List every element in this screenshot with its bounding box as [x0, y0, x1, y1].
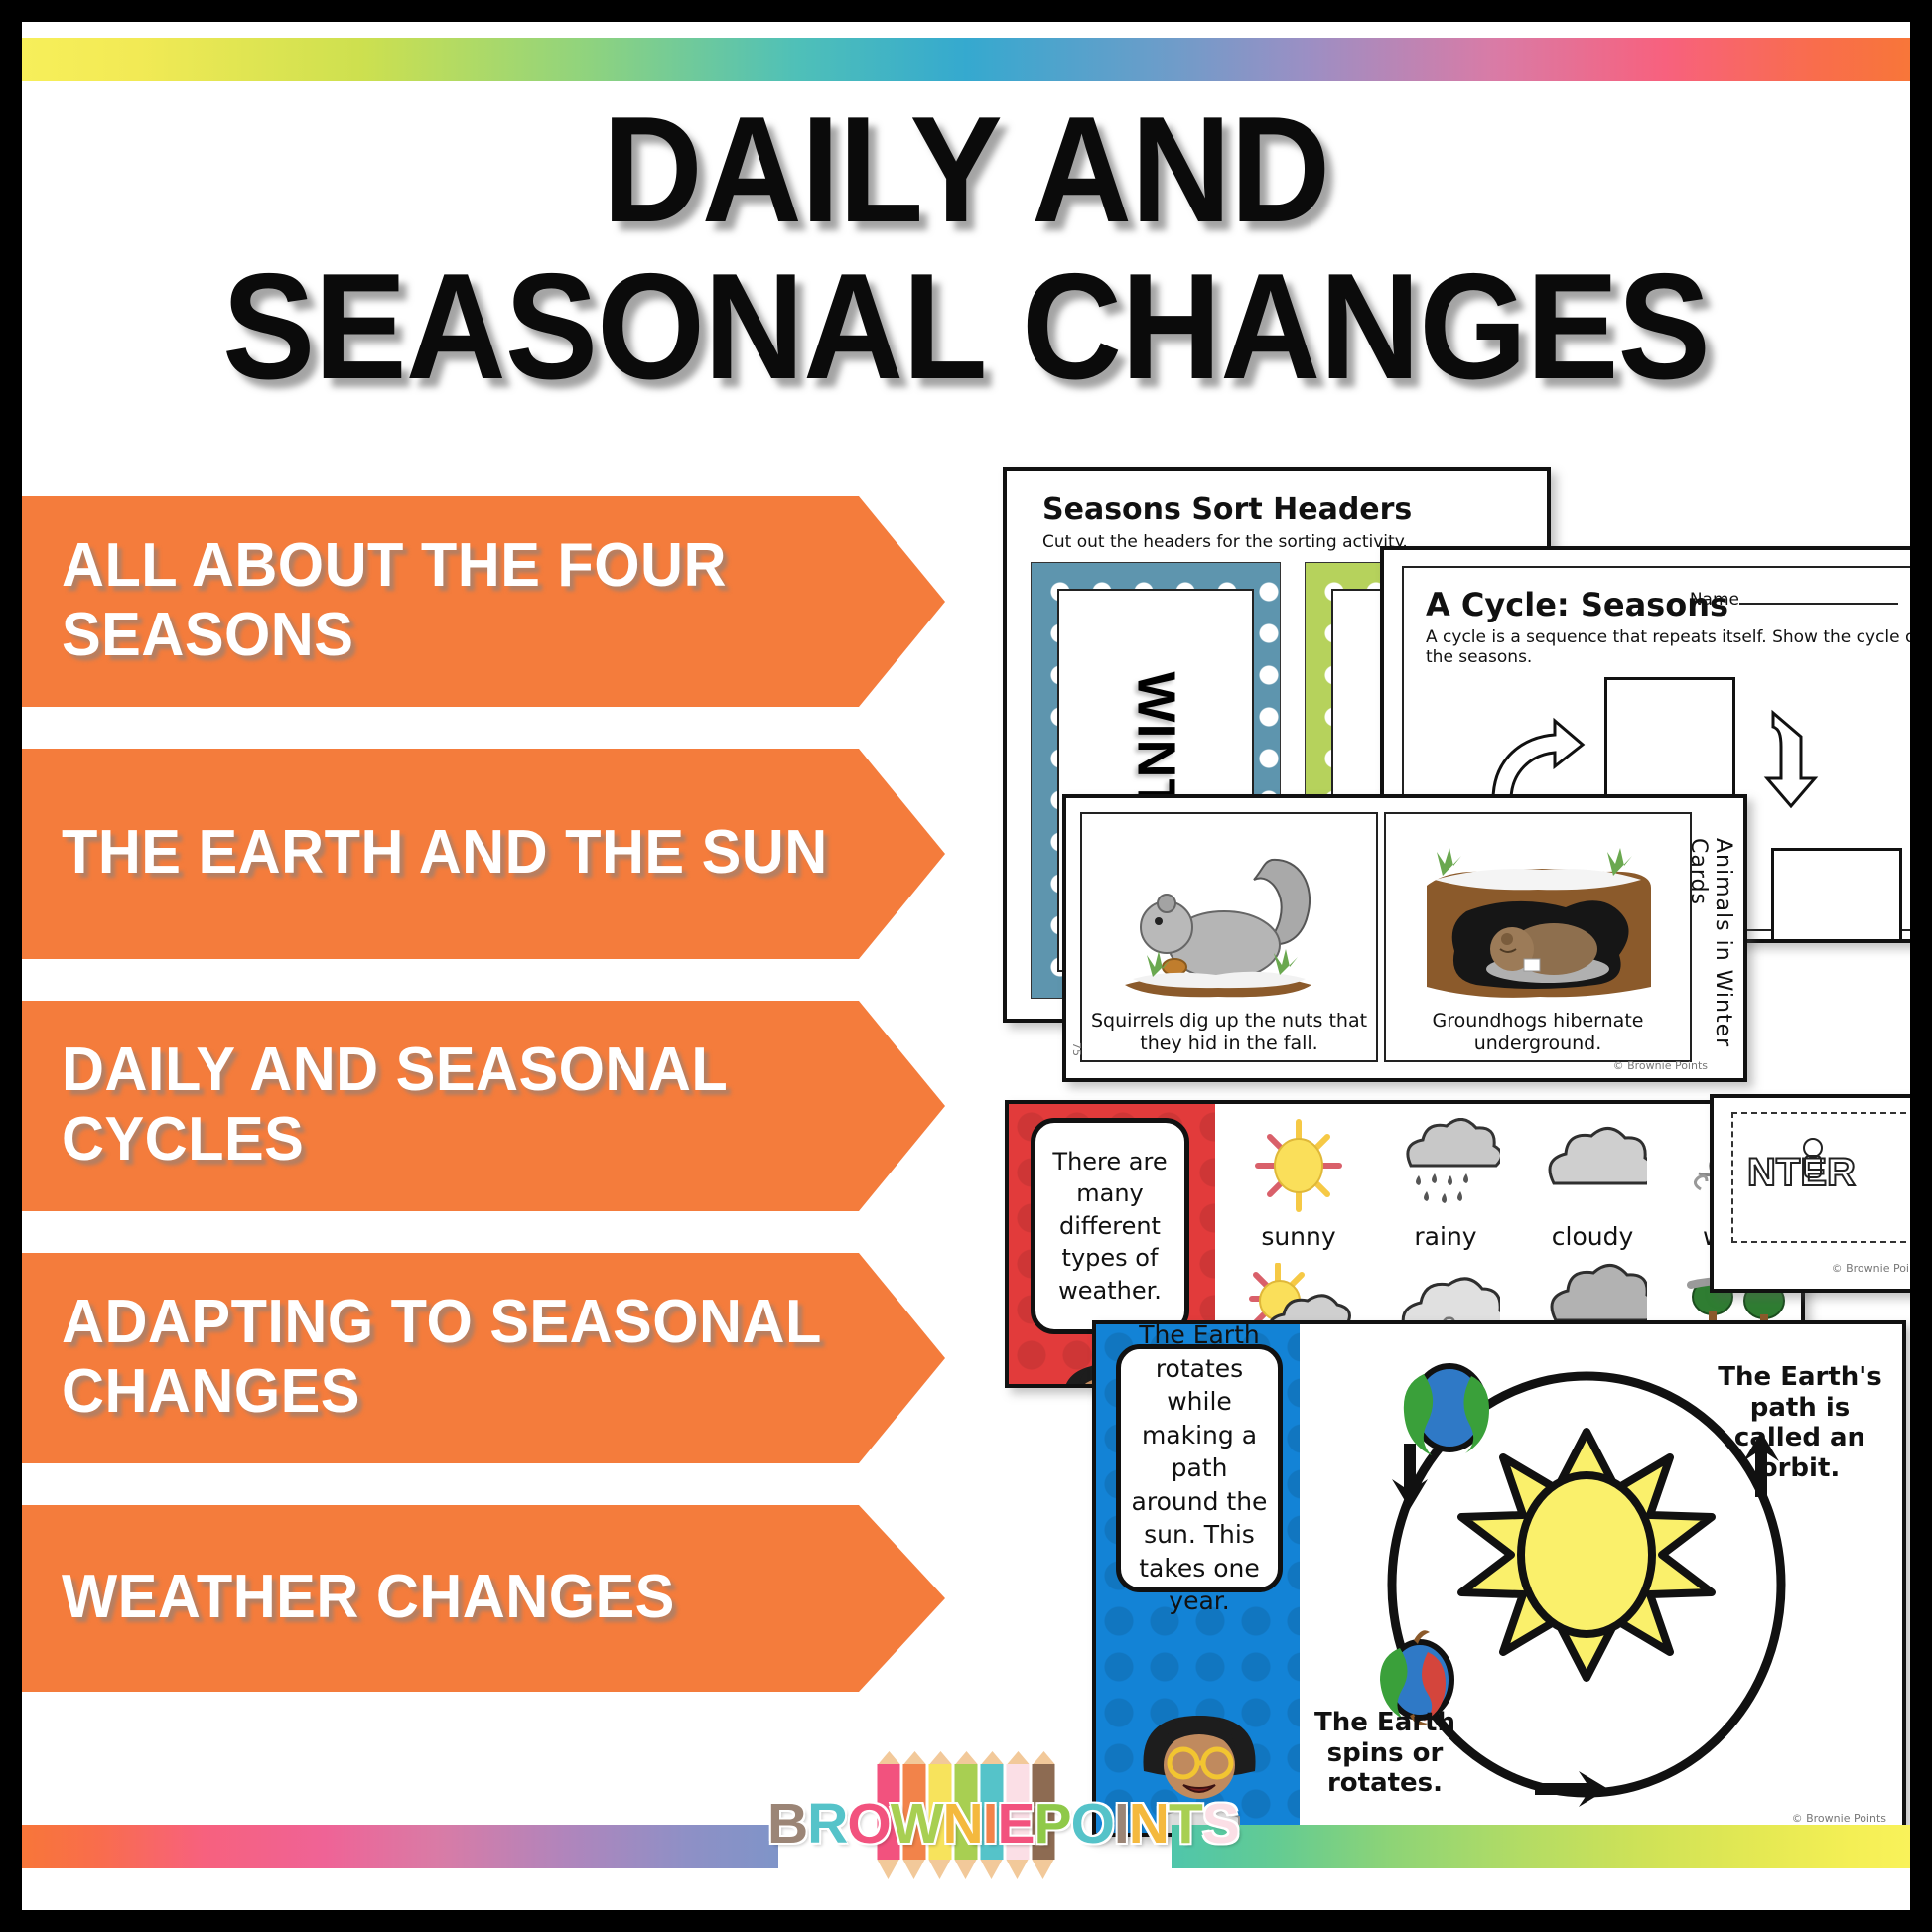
squirrel-icon [1105, 846, 1353, 1010]
watermark: © Brownie Points [1832, 1262, 1910, 1275]
cover-page: DAILY AND SEASONAL CHANGES ALL ABOUT THE… [22, 22, 1910, 1910]
rainbow-strip-bottom-right [1172, 1825, 1910, 1868]
preview-animals-in-winter-cards[interactable]: Squirrels dig up the nuts that they hid … [1062, 794, 1747, 1082]
weather-item-cloudy: cloudy [1519, 1118, 1666, 1251]
banner-earth-and-sun[interactable]: THE EARTH AND THE SUN [22, 749, 945, 959]
svg-text:NTER: NTER [1747, 1151, 1856, 1194]
animal-cards-side-label: Animals in Winter Cards [1686, 838, 1735, 1078]
watermark: © Brownie Points [1613, 1059, 1708, 1072]
preview-earth-orbit-poster[interactable]: The Earth rotates while making a path ar… [1092, 1320, 1906, 1837]
name-rule [1739, 603, 1898, 605]
product-cover: DAILY AND SEASONAL CHANGES ALL ABOUT THE… [0, 0, 1932, 1932]
groundhog-burrow-icon [1409, 846, 1667, 1010]
cycle-box-bottom-right [1771, 848, 1902, 943]
logo-letter: O [847, 1792, 890, 1856]
banner-adapting-seasonal-changes[interactable]: ADAPTING TO SEASONAL CHANGES [22, 1253, 945, 1463]
page-number: 75 [1070, 1042, 1083, 1056]
feature-banner-list: ALL ABOUT THE FOUR SEASONS THE EARTH AND… [22, 496, 965, 1733]
orbit-note-left: The Earth spins or rotates. [1311, 1708, 1459, 1799]
title-line-2: SEASONAL CHANGES [97, 248, 1835, 405]
banner-label: THE EARTH AND THE SUN [62, 818, 828, 888]
weather-label: cloudy [1519, 1222, 1666, 1251]
winter-word-art: NTER [1747, 1132, 1896, 1211]
page-title: DAILY AND SEASONAL CHANGES [22, 91, 1910, 405]
brand-logo[interactable]: BROWNIEPOINTS [767, 1743, 1165, 1892]
logo-letter: I [1114, 1792, 1129, 1856]
animal-card-squirrel: Squirrels dig up the nuts that they hid … [1080, 812, 1378, 1062]
logo-letter: N [943, 1792, 983, 1856]
cloud-icon [1538, 1118, 1647, 1213]
banner-label: ALL ABOUT THE FOUR SEASONS [62, 531, 872, 670]
animal-card-caption: Squirrels dig up the nuts that they hid … [1082, 1010, 1376, 1054]
weather-item-rainy: rainy [1372, 1118, 1519, 1251]
logo-letter: O [1071, 1792, 1114, 1856]
sun-icon [1461, 1432, 1712, 1678]
title-line-1: DAILY AND [97, 91, 1835, 248]
sheet-subtitle: Cut out the headers for the sorting acti… [1042, 532, 1408, 552]
animal-card-caption: Groundhogs hibernate underground. [1386, 1010, 1690, 1054]
watermark: © Brownie Points [1792, 1812, 1886, 1825]
banner-daily-seasonal-cycles[interactable]: DAILY AND SEASONAL CYCLES [22, 1001, 945, 1211]
logo-letter: T [1169, 1792, 1202, 1856]
weather-label: sunny [1225, 1222, 1372, 1251]
banner-label: DAILY AND SEASONAL CYCLES [62, 1035, 872, 1174]
logo-letter: S [1202, 1792, 1239, 1856]
rain-cloud-icon [1391, 1118, 1500, 1213]
logo-letter: W [891, 1792, 943, 1856]
logo-letter: R [807, 1792, 847, 1856]
brand-logo-wordmark: BROWNIEPOINTS [767, 1791, 1165, 1857]
worksheet-title: A Cycle: Seasons [1426, 586, 1728, 623]
banner-all-about-four-seasons[interactable]: ALL ABOUT THE FOUR SEASONS [22, 496, 945, 707]
name-label: Name [1690, 590, 1739, 610]
sheet-title: Seasons Sort Headers [1042, 492, 1412, 527]
banner-label: ADAPTING TO SEASONAL CHANGES [62, 1288, 872, 1427]
weather-item-sunny: sunny [1225, 1118, 1372, 1251]
logo-letter: I [983, 1792, 998, 1856]
rainbow-strip-top [22, 38, 1910, 81]
logo-letter: P [1035, 1792, 1071, 1856]
banner-label: WEATHER CHANGES [62, 1563, 675, 1632]
logo-letter: E [998, 1792, 1035, 1856]
orbit-arrow-right [1535, 1771, 1608, 1807]
name-field[interactable]: Name [1690, 590, 1898, 610]
worksheet-subtitle: A cycle is a sequence that repeats itsel… [1426, 627, 1910, 667]
sun-icon [1244, 1118, 1353, 1213]
earth-globe-top-icon [1404, 1366, 1489, 1455]
banner-weather-changes[interactable]: WEATHER CHANGES [22, 1505, 945, 1692]
preview-cutout-card[interactable]: NTER © Brownie Points [1710, 1094, 1910, 1293]
weather-speech-bubble: There are many different types of weathe… [1031, 1118, 1189, 1334]
weather-label: rainy [1372, 1222, 1519, 1251]
orbit-note-right: The Earth's path is called an orbit. [1716, 1362, 1884, 1484]
orbit-speech-bubble: The Earth rotates while making a path ar… [1116, 1344, 1283, 1592]
rainbow-strip-bottom-left [22, 1825, 778, 1868]
logo-letter: N [1129, 1792, 1169, 1856]
logo-letter: B [767, 1792, 807, 1856]
animal-card-groundhog: Groundhogs hibernate underground. [1384, 812, 1692, 1062]
